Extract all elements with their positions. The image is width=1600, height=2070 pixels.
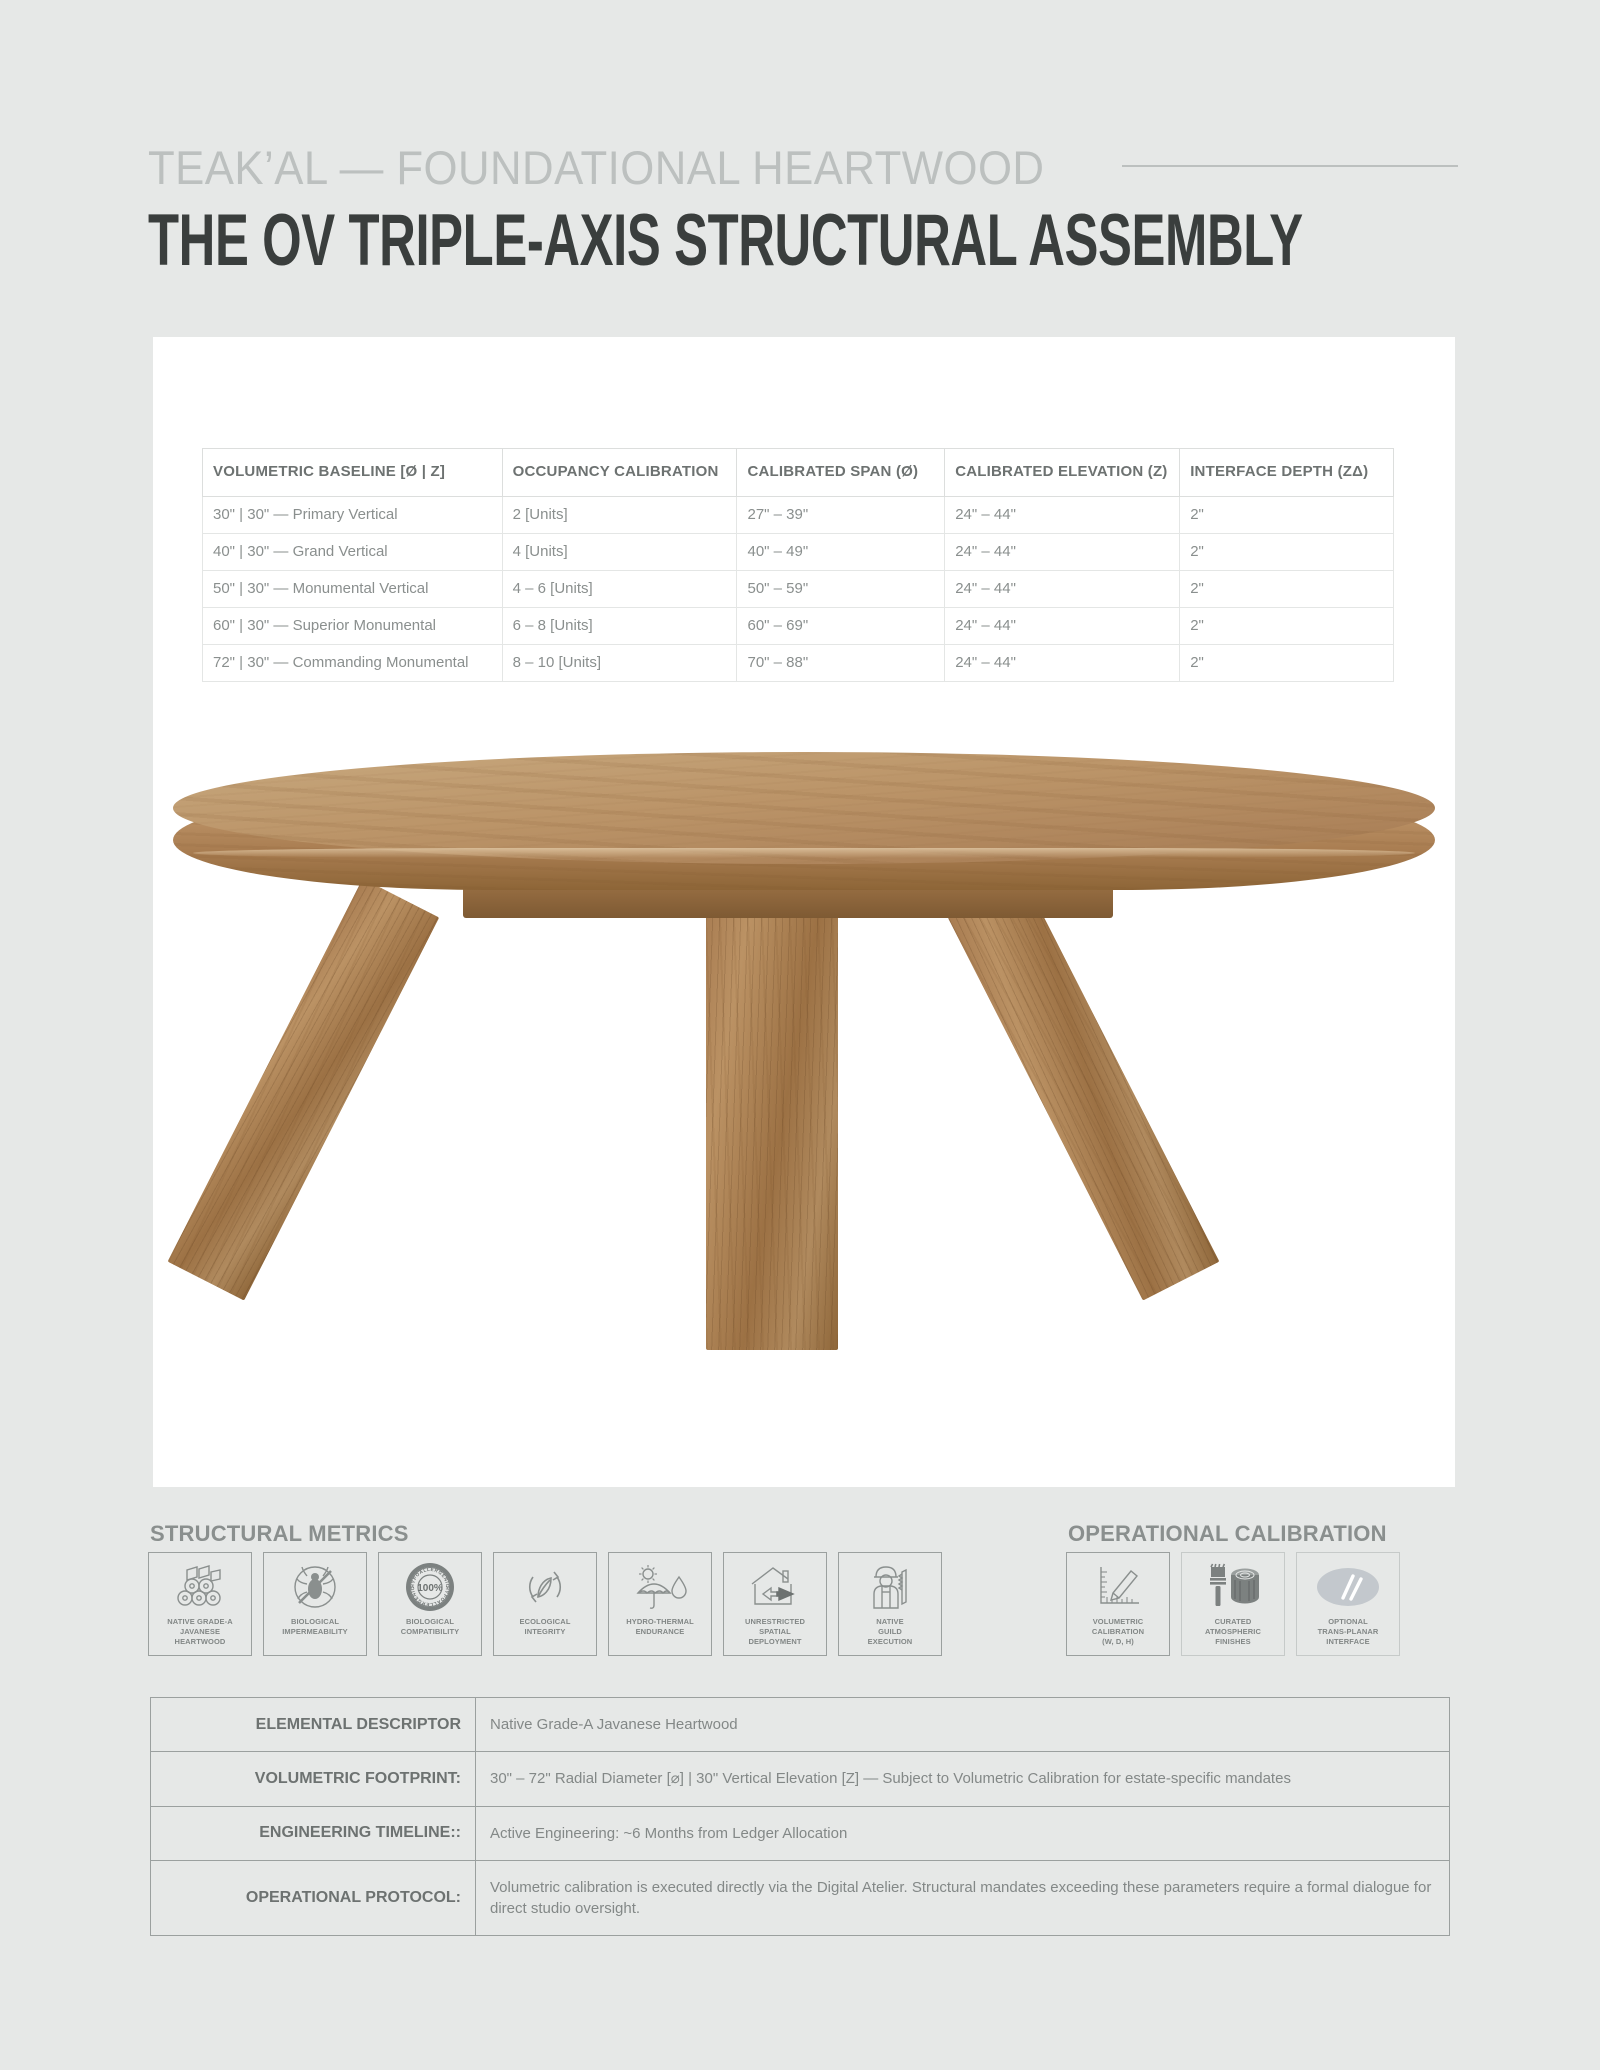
metric-card-native-guild-execution[interactable]: NATIVEGUILDEXECUTION — [838, 1552, 942, 1656]
column-header-interface-depth: INTERFACE DEPTH (ZΔ) — [1180, 449, 1394, 497]
cell-span: 40" – 49" — [737, 534, 945, 571]
page-header: TEAK’AL — FOUNDATIONAL HEARTWOOD THE OV … — [148, 140, 1458, 270]
table-leg-left — [167, 878, 439, 1300]
calibration-label: OPTIONALTRANS-PLANARINTERFACE — [1315, 1615, 1382, 1647]
calibration-card-trans-planar-interface[interactable]: OPTIONALTRANS-PLANARINTERFACE — [1296, 1552, 1400, 1656]
cell-elevation: 24" – 44" — [945, 645, 1180, 682]
spec-key: VOLUMETRIC FOOTPRINT: — [151, 1752, 476, 1806]
spec-value: Active Engineering: ~6 Months from Ledge… — [476, 1806, 1450, 1860]
metric-label: UNRESTRICTEDSPATIALDEPLOYMENT — [742, 1615, 808, 1647]
glass-top-icon — [1297, 1559, 1399, 1615]
table-leg-right — [948, 878, 1220, 1300]
cell-elevation: 24" – 44" — [945, 571, 1180, 608]
table-row: 30" | 30" — Primary Vertical 2 [Units] 2… — [203, 497, 1394, 534]
column-header-volumetric-baseline: VOLUMETRIC BASELINE [Ø | Z] — [203, 449, 503, 497]
cell-elevation: 24" – 44" — [945, 497, 1180, 534]
column-header-calibrated-span: CALIBRATED SPAN (Ø) — [737, 449, 945, 497]
spec-key: OPERATIONAL PROTOCOL: — [151, 1860, 476, 1936]
cell-occupancy: 6 – 8 [Units] — [502, 608, 737, 645]
cell-span: 27" – 39" — [737, 497, 945, 534]
house-in-out-arrow-icon — [724, 1559, 826, 1615]
spec-row-engineering-timeline: ENGINEERING TIMELINE:: Active Engineerin… — [151, 1806, 1450, 1860]
cell-baseline: 30" | 30" — Primary Vertical — [203, 497, 503, 534]
table-row: 60" | 30" — Superior Monumental 6 – 8 [U… — [203, 608, 1394, 645]
spec-key: ELEMENTAL DESCRIPTOR — [151, 1698, 476, 1752]
svg-text:100%: 100% — [417, 1583, 443, 1594]
cell-baseline: 72" | 30" — Commanding Monumental — [203, 645, 503, 682]
metric-card-biological-impermeability[interactable]: BIOLOGICALIMPERMEABILITY — [263, 1552, 367, 1656]
table-row: 50" | 30" — Monumental Vertical 4 – 6 [U… — [203, 571, 1394, 608]
metric-card-native-heartwood[interactable]: NATIVE GRADE-AJAVANESEHEARTWOOD — [148, 1552, 252, 1656]
calibration-label: CURATEDATMOSPHERICFINISHES — [1202, 1615, 1264, 1647]
operational-calibration-title: OPERATIONAL CALIBRATION — [1068, 1521, 1387, 1547]
spec-row-volumetric-footprint: VOLUMETRIC FOOTPRINT: 30" – 72" Radial D… — [151, 1752, 1450, 1806]
cell-elevation: 24" – 44" — [945, 534, 1180, 571]
cell-depth: 2" — [1180, 571, 1394, 608]
cell-occupancy: 8 – 10 [Units] — [502, 645, 737, 682]
cell-baseline: 60" | 30" — Superior Monumental — [203, 608, 503, 645]
metric-label: BIOLOGICALIMPERMEABILITY — [279, 1615, 351, 1637]
metric-card-hydro-thermal-endurance[interactable]: HYDRO-THERMALENDURANCE — [608, 1552, 712, 1656]
calibration-label: VOLUMETRICCALIBRATION(W, D, H) — [1089, 1615, 1147, 1647]
spec-value: Native Grade-A Javanese Heartwood — [476, 1698, 1450, 1752]
cell-baseline: 40" | 30" — Grand Vertical — [203, 534, 503, 571]
cell-depth: 2" — [1180, 497, 1394, 534]
cell-span: 50" – 59" — [737, 571, 945, 608]
spec-row-operational-protocol: OPERATIONAL PROTOCOL: Volumetric calibra… — [151, 1860, 1450, 1936]
cell-depth: 2" — [1180, 534, 1394, 571]
spec-value: Volumetric calibration is executed direc… — [476, 1860, 1450, 1936]
metric-label: ECOLOGICALINTEGRITY — [517, 1615, 574, 1637]
volumetric-baseline-table: VOLUMETRIC BASELINE [Ø | Z] OCCUPANCY CA… — [202, 448, 1394, 682]
table-edge-highlight — [193, 848, 1415, 858]
no-insect-icon — [264, 1559, 366, 1615]
cell-occupancy: 2 [Units] — [502, 497, 737, 534]
cell-depth: 2" — [1180, 645, 1394, 682]
page-title: THE OV TRIPLE-AXIS STRUCTURAL ASSEMBLY — [148, 199, 1222, 283]
stacked-logs-icon — [149, 1559, 251, 1615]
structural-metrics-title: STRUCTURAL METRICS — [150, 1521, 409, 1547]
calibration-card-atmospheric-finishes[interactable]: CURATEDATMOSPHERICFINISHES — [1181, 1552, 1285, 1656]
specification-table: ELEMENTAL DESCRIPTOR Native Grade-A Java… — [150, 1697, 1450, 1936]
metric-card-ecological-integrity[interactable]: ECOLOGICALINTEGRITY — [493, 1552, 597, 1656]
ruler-pencil-icon — [1067, 1559, 1169, 1615]
cell-occupancy: 4 – 6 [Units] — [502, 571, 737, 608]
column-header-occupancy-calibration: OCCUPANCY CALIBRATION — [502, 449, 737, 497]
cell-elevation: 24" – 44" — [945, 608, 1180, 645]
brand-eyebrow: TEAK’AL — FOUNDATIONAL HEARTWOOD — [148, 140, 1044, 195]
eyebrow-row: TEAK’AL — FOUNDATIONAL HEARTWOOD — [148, 140, 1458, 195]
table-leg-center — [706, 895, 838, 1350]
hypoallergenic-100-seal-icon: 100% HYPOALLERGENIC HYPOALLERGENIC — [379, 1559, 481, 1615]
leaf-recycle-icon — [494, 1559, 596, 1615]
cell-occupancy: 4 [Units] — [502, 534, 737, 571]
cell-baseline: 50" | 30" — Monumental Vertical — [203, 571, 503, 608]
cell-span: 60" – 69" — [737, 608, 945, 645]
structural-metrics-row: NATIVE GRADE-AJAVANESEHEARTWOOD BIOLOGIC… — [148, 1552, 942, 1656]
metric-label: BIOLOGICALCOMPATIBILITY — [398, 1615, 463, 1637]
operational-calibration-row: VOLUMETRICCALIBRATION(W, D, H) — [1066, 1552, 1400, 1656]
cell-depth: 2" — [1180, 608, 1394, 645]
metric-label: NATIVEGUILDEXECUTION — [865, 1615, 916, 1647]
header-rule — [1122, 165, 1458, 167]
product-photo — [153, 730, 1455, 1420]
calibration-card-volumetric[interactable]: VOLUMETRICCALIBRATION(W, D, H) — [1066, 1552, 1170, 1656]
craftsman-saw-icon — [839, 1559, 941, 1615]
metric-label: HYDRO-THERMALENDURANCE — [623, 1615, 697, 1637]
brush-wood-stump-icon — [1182, 1559, 1284, 1615]
spec-key: ENGINEERING TIMELINE:: — [151, 1806, 476, 1860]
spec-row-elemental-descriptor: ELEMENTAL DESCRIPTOR Native Grade-A Java… — [151, 1698, 1450, 1752]
metric-label: NATIVE GRADE-AJAVANESEHEARTWOOD — [164, 1615, 235, 1647]
sun-umbrella-droplet-icon — [609, 1559, 711, 1615]
spec-value: 30" – 72" Radial Diameter [⌀] | 30" Vert… — [476, 1752, 1450, 1806]
column-header-calibrated-elevation: CALIBRATED ELEVATION (Z) — [945, 449, 1180, 497]
table-row: 72" | 30" — Commanding Monumental 8 – 10… — [203, 645, 1394, 682]
table-header-row: VOLUMETRIC BASELINE [Ø | Z] OCCUPANCY CA… — [203, 449, 1394, 497]
metric-card-biological-compatibility[interactable]: 100% HYPOALLERGENIC HYPOALLERGENIC BIOLO… — [378, 1552, 482, 1656]
metric-card-spatial-deployment[interactable]: UNRESTRICTEDSPATIALDEPLOYMENT — [723, 1552, 827, 1656]
cell-span: 70" – 88" — [737, 645, 945, 682]
table-row: 40" | 30" — Grand Vertical 4 [Units] 40"… — [203, 534, 1394, 571]
